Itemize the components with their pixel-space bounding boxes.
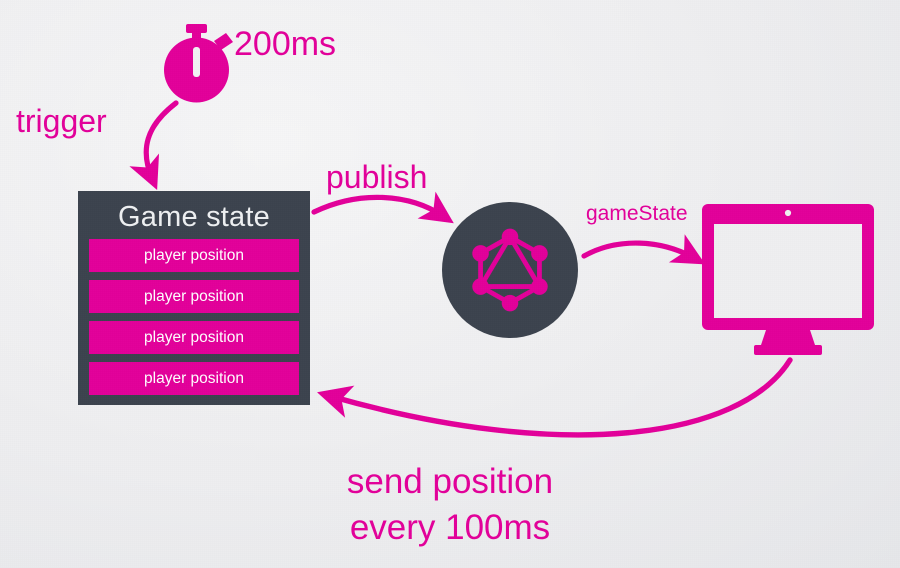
diagram-canvas: Game state player position player positi… <box>0 0 900 568</box>
graphql-logo-icon <box>464 224 556 316</box>
player-position-row: player position <box>89 362 299 395</box>
send-position-line-1: send position <box>347 462 553 501</box>
player-position-row: player position <box>89 239 299 272</box>
graphql-hub <box>442 202 578 338</box>
send-position-label: send positionevery 100ms <box>0 462 900 547</box>
timer-interval-label: 200ms <box>234 25 336 63</box>
gamestate-label: gameState <box>586 202 688 226</box>
publish-label: publish <box>326 160 427 196</box>
game-state-title: Game state <box>89 197 299 239</box>
player-position-row: player position <box>89 280 299 313</box>
monitor-icon <box>702 204 874 355</box>
send-position-line-2: every 100ms <box>0 508 900 547</box>
trigger-label: trigger <box>16 104 107 140</box>
game-state-panel: Game state player position player positi… <box>78 191 310 405</box>
player-position-row: player position <box>89 321 299 354</box>
stopwatch-icon <box>164 24 233 103</box>
